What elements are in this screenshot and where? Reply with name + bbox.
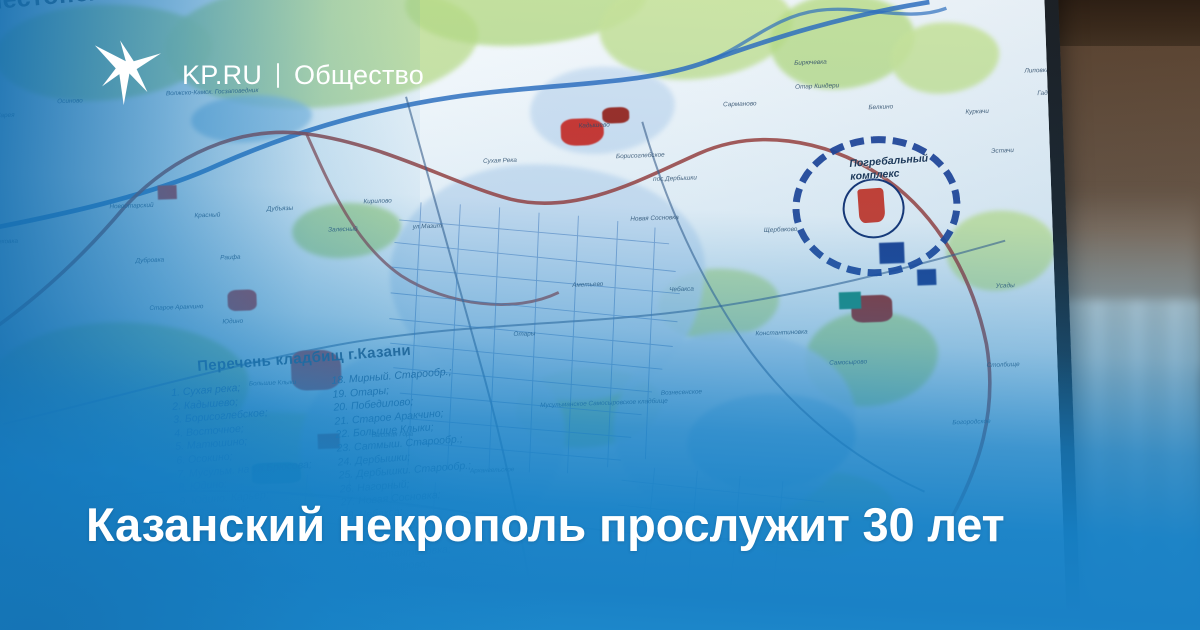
- brand-separator-icon: [277, 63, 279, 88]
- page-title: Казанский некрополь прослужит 30 лет: [86, 498, 1066, 552]
- brand-section-label[interactable]: Общество: [294, 62, 424, 89]
- kp-swallow-logo-icon[interactable]: [92, 36, 164, 108]
- blue-corner-gradient: [0, 300, 560, 630]
- brand-bar[interactable]: KP.RU Общество: [92, 36, 424, 108]
- social-share-card: Местоположение нового погребального комп…: [0, 0, 1200, 630]
- brand-site-label[interactable]: KP.RU: [182, 62, 262, 89]
